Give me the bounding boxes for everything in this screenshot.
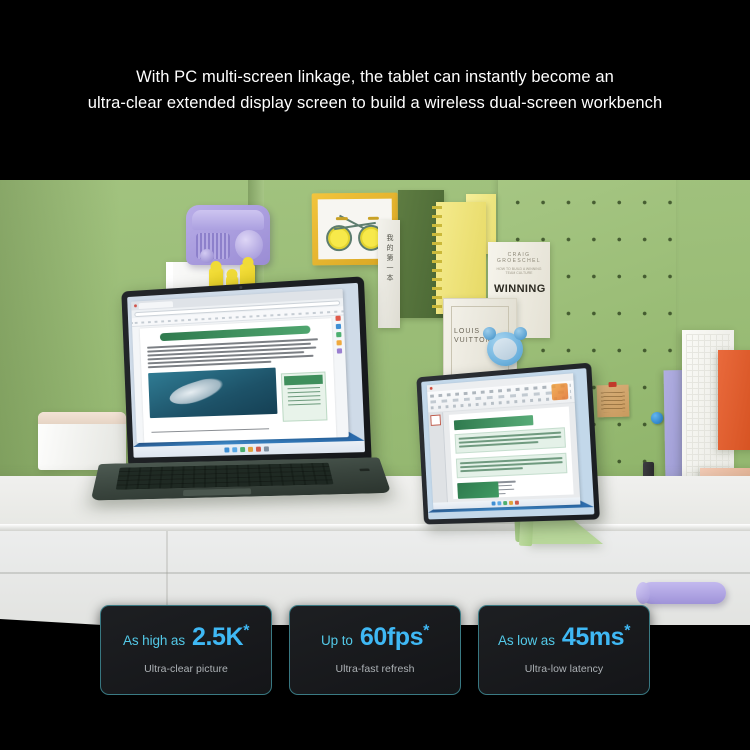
stat-caption: Ultra-fast refresh (335, 663, 414, 675)
app-icon[interactable] (509, 501, 513, 505)
stat-headline: As low as 45ms* (498, 623, 630, 652)
sidebox-header (284, 375, 323, 386)
stat-caption: Ultra-low latency (525, 663, 603, 675)
promo-page: With PC multi-screen linkage, the tablet… (0, 0, 750, 750)
laptop-port (359, 469, 370, 472)
tablet-screen (421, 368, 594, 519)
radio-knob (200, 249, 214, 263)
product-photo: 我的第一本 CRAIG GROESCHEL HOW TO BUILD A WIN… (0, 180, 750, 630)
app-icon[interactable] (515, 501, 519, 505)
purple-roller (640, 582, 726, 604)
document-footnote (151, 428, 269, 433)
clock-face (493, 338, 517, 360)
headline-line-2: ultra-clear extended display screen to b… (88, 90, 663, 116)
stat-headline: Up to 60fps* (321, 623, 429, 652)
browser-favicon-icon (134, 304, 137, 307)
stat-asterisk: * (243, 622, 249, 639)
book-title: WINNING (494, 283, 544, 295)
slide-thumbnail-panel[interactable] (428, 412, 448, 502)
radio-handle (192, 210, 264, 230)
stat-prefix: As low as (498, 633, 555, 648)
laptop-screen (127, 283, 365, 458)
stat-value: 2.5K* (192, 623, 249, 652)
slide-canvas[interactable] (449, 406, 574, 498)
blue-alarm-clock (487, 332, 523, 366)
laptop-lid (121, 276, 371, 468)
fish-shape (167, 375, 226, 410)
stat-value: 60fps* (360, 623, 429, 652)
laptop-base (91, 457, 392, 500)
stat-caption: Ultra-clear picture (144, 663, 228, 675)
presentation-app-window (427, 373, 581, 509)
stat-asterisk: * (624, 622, 630, 639)
browser-extension-icons[interactable] (336, 315, 345, 353)
headline-block: With PC multi-screen linkage, the tablet… (0, 0, 750, 180)
headline-line-1: With PC multi-screen linkage, the tablet… (136, 64, 614, 90)
slide-title-block (454, 415, 533, 430)
laptop-keyboard[interactable] (116, 463, 334, 490)
slide-thumbnail[interactable] (430, 415, 441, 426)
explorer-icon[interactable] (503, 501, 507, 505)
slide-text-block (455, 427, 567, 454)
red-notepad (718, 350, 750, 450)
stat-card-refresh: Up to 60fps* Ultra-fast refresh (289, 605, 461, 695)
laptop-device (96, 284, 386, 514)
search-icon[interactable] (497, 502, 501, 506)
stat-prefix: As high as (123, 633, 185, 648)
bicycle-seat (336, 217, 348, 220)
document-sidebox (281, 371, 328, 421)
stat-card-resolution: As high as 2.5K* Ultra-clear picture (100, 605, 272, 695)
desk-edge (0, 524, 750, 531)
color-swatch-icon[interactable] (552, 383, 569, 401)
slide-green-tag (457, 481, 499, 499)
clock-bell (483, 327, 496, 340)
app-icon[interactable] (263, 446, 268, 451)
stat-headline: As high as 2.5K* (123, 623, 249, 652)
browser-window (131, 289, 349, 443)
lv-line-1: LOUIS (454, 328, 480, 335)
app-icon[interactable] (255, 447, 260, 452)
spiral-binding (432, 206, 442, 310)
webcam-icon (239, 285, 242, 288)
stats-card-row: As high as 2.5K* Ultra-clear picture Up … (0, 605, 750, 697)
explorer-icon[interactable] (240, 447, 245, 452)
document-page (140, 318, 337, 443)
slide-text-block (456, 453, 568, 479)
stat-prefix: Up to (321, 633, 353, 648)
document-underwater-image (148, 367, 277, 418)
book-author: CRAIG GROESCHEL (494, 252, 544, 264)
app-icon (430, 387, 433, 390)
blue-magnet (651, 412, 663, 424)
desk-seam (0, 572, 750, 574)
purple-radio (186, 205, 270, 265)
stat-value: 45ms* (562, 623, 630, 652)
tablet-body (416, 363, 600, 525)
start-icon[interactable] (491, 502, 495, 506)
app-workspace (428, 403, 580, 503)
radio-dial (235, 230, 263, 260)
tablet-device (415, 370, 615, 545)
stat-asterisk: * (423, 622, 429, 639)
stat-card-latency: As low as 45ms* Ultra-low latency (478, 605, 650, 695)
app-icon[interactable] (247, 447, 252, 452)
laptop-touchpad[interactable] (183, 488, 251, 496)
book-subtitle: HOW TO BUILD A WINNING TEAM CULTURE (494, 267, 544, 275)
search-icon[interactable] (232, 447, 237, 452)
start-icon[interactable] (224, 447, 229, 452)
clock-bell (514, 327, 527, 340)
